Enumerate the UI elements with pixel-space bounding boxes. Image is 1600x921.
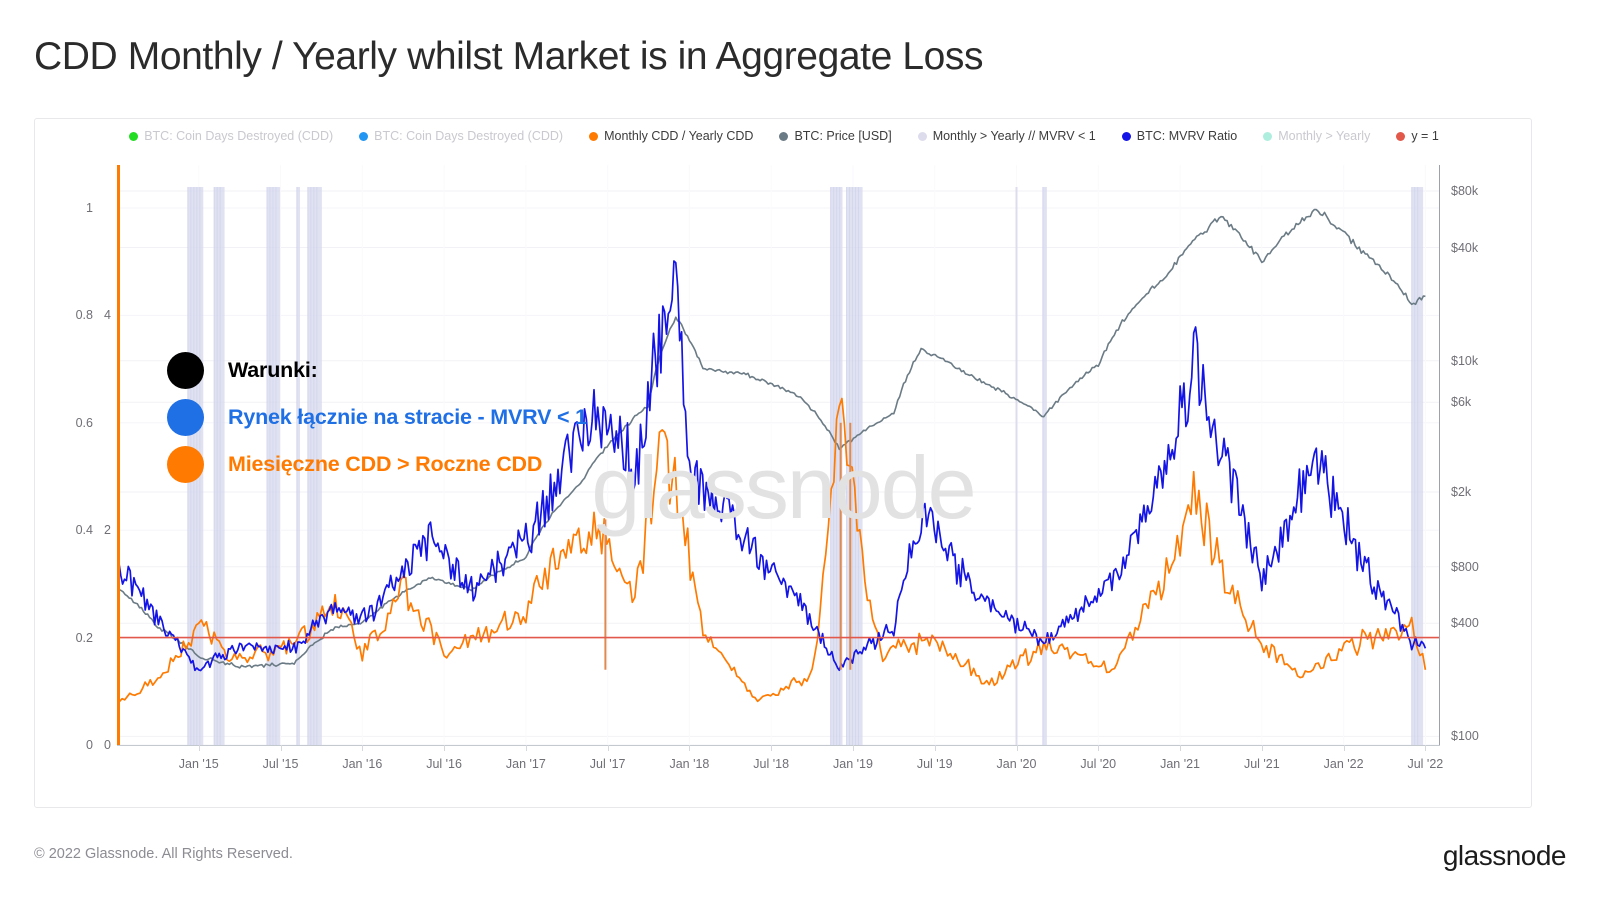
x-tick-mark: [281, 745, 282, 751]
annotation-label: Miesięczne CDD > Roczne CDD: [228, 452, 542, 477]
x-tick-label: Jan '18: [669, 757, 709, 771]
conditions-annotation: Warunki:Rynek łącznie na stracie - MVRV …: [167, 347, 587, 488]
y-tick-right: $800: [1451, 560, 1479, 574]
x-tick-label: Jan '22: [1324, 757, 1364, 771]
legend-item[interactable]: Monthly > Yearly // MVRV < 1: [918, 129, 1096, 143]
y-tick-inner: 2: [83, 523, 111, 537]
annotation-bullet-icon: [167, 399, 204, 436]
annotation-bullet-icon: [167, 446, 204, 483]
legend-item-label: y = 1: [1411, 129, 1438, 143]
legend-swatch-icon: [359, 132, 368, 141]
x-tick-label: Jan '19: [833, 757, 873, 771]
x-tick-label: Jul '17: [590, 757, 626, 771]
x-tick-label: Jan '20: [997, 757, 1037, 771]
copyright-text: © 2022 Glassnode. All Rights Reserved.: [34, 846, 293, 862]
legend-item[interactable]: BTC: Price [USD]: [779, 129, 891, 143]
x-tick-mark: [362, 745, 363, 751]
x-tick-label: Jan '16: [342, 757, 382, 771]
x-tick-mark: [1180, 745, 1181, 751]
chart-legend: BTC: Coin Days Destroyed (CDD)BTC: Coin …: [35, 129, 1533, 143]
x-tick-mark: [689, 745, 690, 751]
legend-item[interactable]: BTC: Coin Days Destroyed (CDD): [359, 129, 563, 143]
annotation-row: Warunki:: [167, 347, 587, 394]
legend-item-label: Monthly > Yearly: [1278, 129, 1370, 143]
y-tick-outer: 0.6: [53, 416, 93, 430]
legend-item-label: BTC: Coin Days Destroyed (CDD): [374, 129, 563, 143]
right-axis-line: [1439, 165, 1440, 745]
y-tick-right: $6k: [1451, 395, 1471, 409]
x-tick-label: Jul '22: [1407, 757, 1443, 771]
x-tick-mark: [1098, 745, 1099, 751]
annotation-row: Rynek łącznie na stracie - MVRV < 1: [167, 394, 587, 441]
legend-item[interactable]: BTC: MVRV Ratio: [1122, 129, 1238, 143]
x-tick-label: Jan '17: [506, 757, 546, 771]
glassnode-logo: glassnode: [1443, 840, 1566, 872]
x-tick-mark: [1262, 745, 1263, 751]
x-tick-mark: [1344, 745, 1345, 751]
x-tick-label: Jul '19: [917, 757, 953, 771]
annotation-bullet-icon: [167, 352, 204, 389]
x-tick-label: Jul '20: [1080, 757, 1116, 771]
y-tick-outer: 0.2: [53, 631, 93, 645]
y-tick-outer: 1: [53, 201, 93, 215]
x-tick-label: Jul '15: [263, 757, 299, 771]
legend-item-label: Monthly > Yearly // MVRV < 1: [933, 129, 1096, 143]
x-tick-label: Jul '18: [753, 757, 789, 771]
legend-item[interactable]: y = 1: [1396, 129, 1438, 143]
highlight-band: [1042, 187, 1047, 745]
y-tick-right: $2k: [1451, 485, 1471, 499]
legend-swatch-icon: [779, 132, 788, 141]
x-tick-label: Jul '21: [1244, 757, 1280, 771]
legend-swatch-icon: [129, 132, 138, 141]
legend-swatch-icon: [918, 132, 927, 141]
legend-item-label: BTC: Price [USD]: [794, 129, 891, 143]
x-tick-label: Jan '15: [179, 757, 219, 771]
y-tick-inner: 0: [83, 738, 111, 752]
chart-card: BTC: Coin Days Destroyed (CDD)BTC: Coin …: [34, 118, 1532, 808]
page-title: CDD Monthly / Yearly whilst Market is in…: [34, 35, 983, 79]
chart-page: CDD Monthly / Yearly whilst Market is in…: [0, 0, 1600, 921]
annotation-label: Rynek łącznie na stracie - MVRV < 1: [228, 405, 587, 430]
x-tick-mark: [199, 745, 200, 751]
x-tick-mark: [771, 745, 772, 751]
y-tick-right: $10k: [1451, 354, 1478, 368]
annotation-label: Warunki:: [228, 358, 318, 383]
y-tick-right: $40k: [1451, 241, 1478, 255]
x-tick-mark: [935, 745, 936, 751]
x-tick-mark: [853, 745, 854, 751]
legend-item-label: BTC: MVRV Ratio: [1137, 129, 1238, 143]
legend-item[interactable]: Monthly > Yearly: [1263, 129, 1370, 143]
legend-swatch-icon: [1122, 132, 1131, 141]
x-tick-mark: [608, 745, 609, 751]
legend-item[interactable]: Monthly CDD / Yearly CDD: [589, 129, 753, 143]
highlight-band: [1411, 187, 1423, 745]
y-tick-inner: 4: [83, 308, 111, 322]
legend-swatch-icon: [589, 132, 598, 141]
bottom-axis-line: [117, 745, 1440, 746]
legend-item-label: BTC: Coin Days Destroyed (CDD): [144, 129, 333, 143]
legend-swatch-icon: [1263, 132, 1272, 141]
legend-item-label: Monthly CDD / Yearly CDD: [604, 129, 753, 143]
x-tick-mark: [1425, 745, 1426, 751]
x-tick-label: Jan '21: [1160, 757, 1200, 771]
y-tick-right: $80k: [1451, 184, 1478, 198]
x-tick-mark: [444, 745, 445, 751]
legend-swatch-icon: [1396, 132, 1405, 141]
legend-item[interactable]: BTC: Coin Days Destroyed (CDD): [129, 129, 333, 143]
y-tick-right: $100: [1451, 729, 1479, 743]
annotation-row: Miesięczne CDD > Roczne CDD: [167, 441, 587, 488]
y-tick-right: $400: [1451, 616, 1479, 630]
x-tick-mark: [526, 745, 527, 751]
x-tick-mark: [1017, 745, 1018, 751]
x-tick-label: Jul '16: [426, 757, 462, 771]
